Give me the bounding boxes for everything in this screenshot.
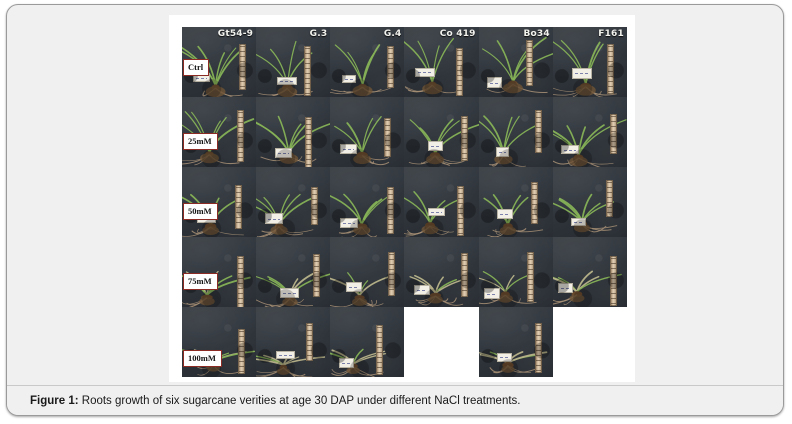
photo-cell (479, 237, 553, 307)
caption-text: Figure 1: Roots growth of six sugarcane … (30, 395, 520, 407)
specimen-tag (277, 77, 296, 85)
photo-cell: Co 419 (404, 27, 478, 97)
specimen-tag (572, 68, 592, 79)
ruler (457, 186, 464, 235)
photo-cell: 25mM (182, 97, 256, 167)
specimen-tag (265, 213, 283, 223)
photo-cell-empty (404, 307, 478, 377)
ruler (239, 44, 246, 90)
specimen-tag (275, 148, 292, 158)
ruler (237, 110, 244, 162)
specimen-tag (497, 353, 512, 361)
specimen-tag (346, 282, 361, 293)
ruler (384, 118, 391, 157)
ruler (388, 252, 395, 297)
photo-cell (256, 167, 330, 237)
photo-cell (256, 237, 330, 307)
specimen-tag (428, 141, 443, 150)
ruler (610, 256, 617, 306)
column-header-col-6: F161 (598, 29, 624, 39)
ruler (610, 114, 617, 154)
ruler (311, 187, 318, 225)
ruler (535, 110, 542, 153)
specimen-tag (342, 75, 356, 83)
specimen-tag (339, 358, 355, 368)
photo-cell: F161 (553, 27, 627, 97)
specimen-tag (276, 351, 295, 360)
ruler (238, 329, 245, 374)
photo-cell: 50mM (182, 167, 256, 237)
specimen-tag (497, 209, 513, 220)
specimen-tag (340, 144, 357, 154)
ruler (606, 180, 613, 217)
ruler (535, 323, 542, 374)
specimen-tag (487, 77, 501, 88)
ruler (461, 116, 468, 162)
photo-cell (553, 97, 627, 167)
ruler (456, 48, 463, 96)
column-header-col-2: G.3 (310, 29, 328, 39)
photo-cell (479, 97, 553, 167)
photo-cell (330, 307, 404, 377)
photo-cell: 75mM (182, 237, 256, 307)
figure-caption: Figure 1: Roots growth of six sugarcane … (7, 385, 783, 416)
photo-cell (553, 167, 627, 237)
photo-cell (330, 97, 404, 167)
ruler (305, 117, 312, 167)
photo-cell (553, 237, 627, 307)
column-header-col-1: Gt54-9 (218, 29, 253, 39)
column-header-col-3: G.4 (384, 29, 402, 39)
specimen-tag (340, 218, 357, 228)
ruler (387, 187, 394, 234)
ruler (376, 325, 383, 375)
specimen-tag (415, 68, 435, 77)
ruler (313, 254, 320, 297)
ruler (237, 256, 244, 307)
photo-cell (404, 237, 478, 307)
row-label-row-ctrl: Ctrl (183, 59, 209, 76)
row-label-row-50: 50mM (183, 203, 218, 220)
photo-cell: Bo34 (479, 27, 553, 97)
caption-body: Roots growth of six sugarcane verities a… (79, 395, 521, 407)
row-label-row-25: 25mM (183, 133, 218, 150)
photo-cell (256, 307, 330, 377)
ruler (387, 46, 394, 88)
figure-image-panel: Gt54-9CtrlG.3G.4Co 419Bo34F16125mM50mM75… (169, 15, 635, 382)
photo-cell: G.3 (256, 27, 330, 97)
specimen-tag (428, 208, 445, 216)
photo-cell (330, 237, 404, 307)
specimen-tag (280, 288, 300, 298)
specimen-tag (561, 145, 579, 154)
specimen-tag (496, 147, 509, 157)
photo-cell: 100mM (182, 307, 256, 377)
photo-cell-empty (553, 307, 627, 377)
column-header-col-5: Bo34 (523, 29, 549, 39)
photo-cell (404, 97, 478, 167)
ruler (607, 44, 614, 94)
ruler (306, 323, 313, 362)
specimen-tag (414, 285, 430, 295)
ruler (461, 253, 468, 297)
figure-card: Gt54-9CtrlG.3G.4Co 419Bo34F16125mM50mM75… (6, 4, 784, 416)
row-label-row-75: 75mM (183, 273, 218, 290)
photo-cell (479, 167, 553, 237)
ruler (235, 185, 242, 229)
ruler (531, 182, 538, 225)
photo-cell (256, 97, 330, 167)
photo-cell (404, 167, 478, 237)
ruler (304, 46, 311, 96)
caption-label: Figure 1: (30, 395, 79, 407)
photo-cell (479, 307, 553, 377)
specimen-tag (484, 288, 500, 299)
specimen-tag (571, 218, 586, 226)
specimen-tag (558, 283, 573, 293)
photo-cell (330, 167, 404, 237)
ruler (527, 252, 534, 302)
column-header-col-4: Co 419 (440, 29, 476, 39)
ruler (526, 40, 533, 86)
photo-cell: G.4 (330, 27, 404, 97)
photo-grid: Gt54-9CtrlG.3G.4Co 419Bo34F16125mM50mM75… (182, 27, 627, 377)
row-label-row-100: 100mM (183, 350, 222, 367)
photo-cell: Gt54-9Ctrl (182, 27, 256, 97)
